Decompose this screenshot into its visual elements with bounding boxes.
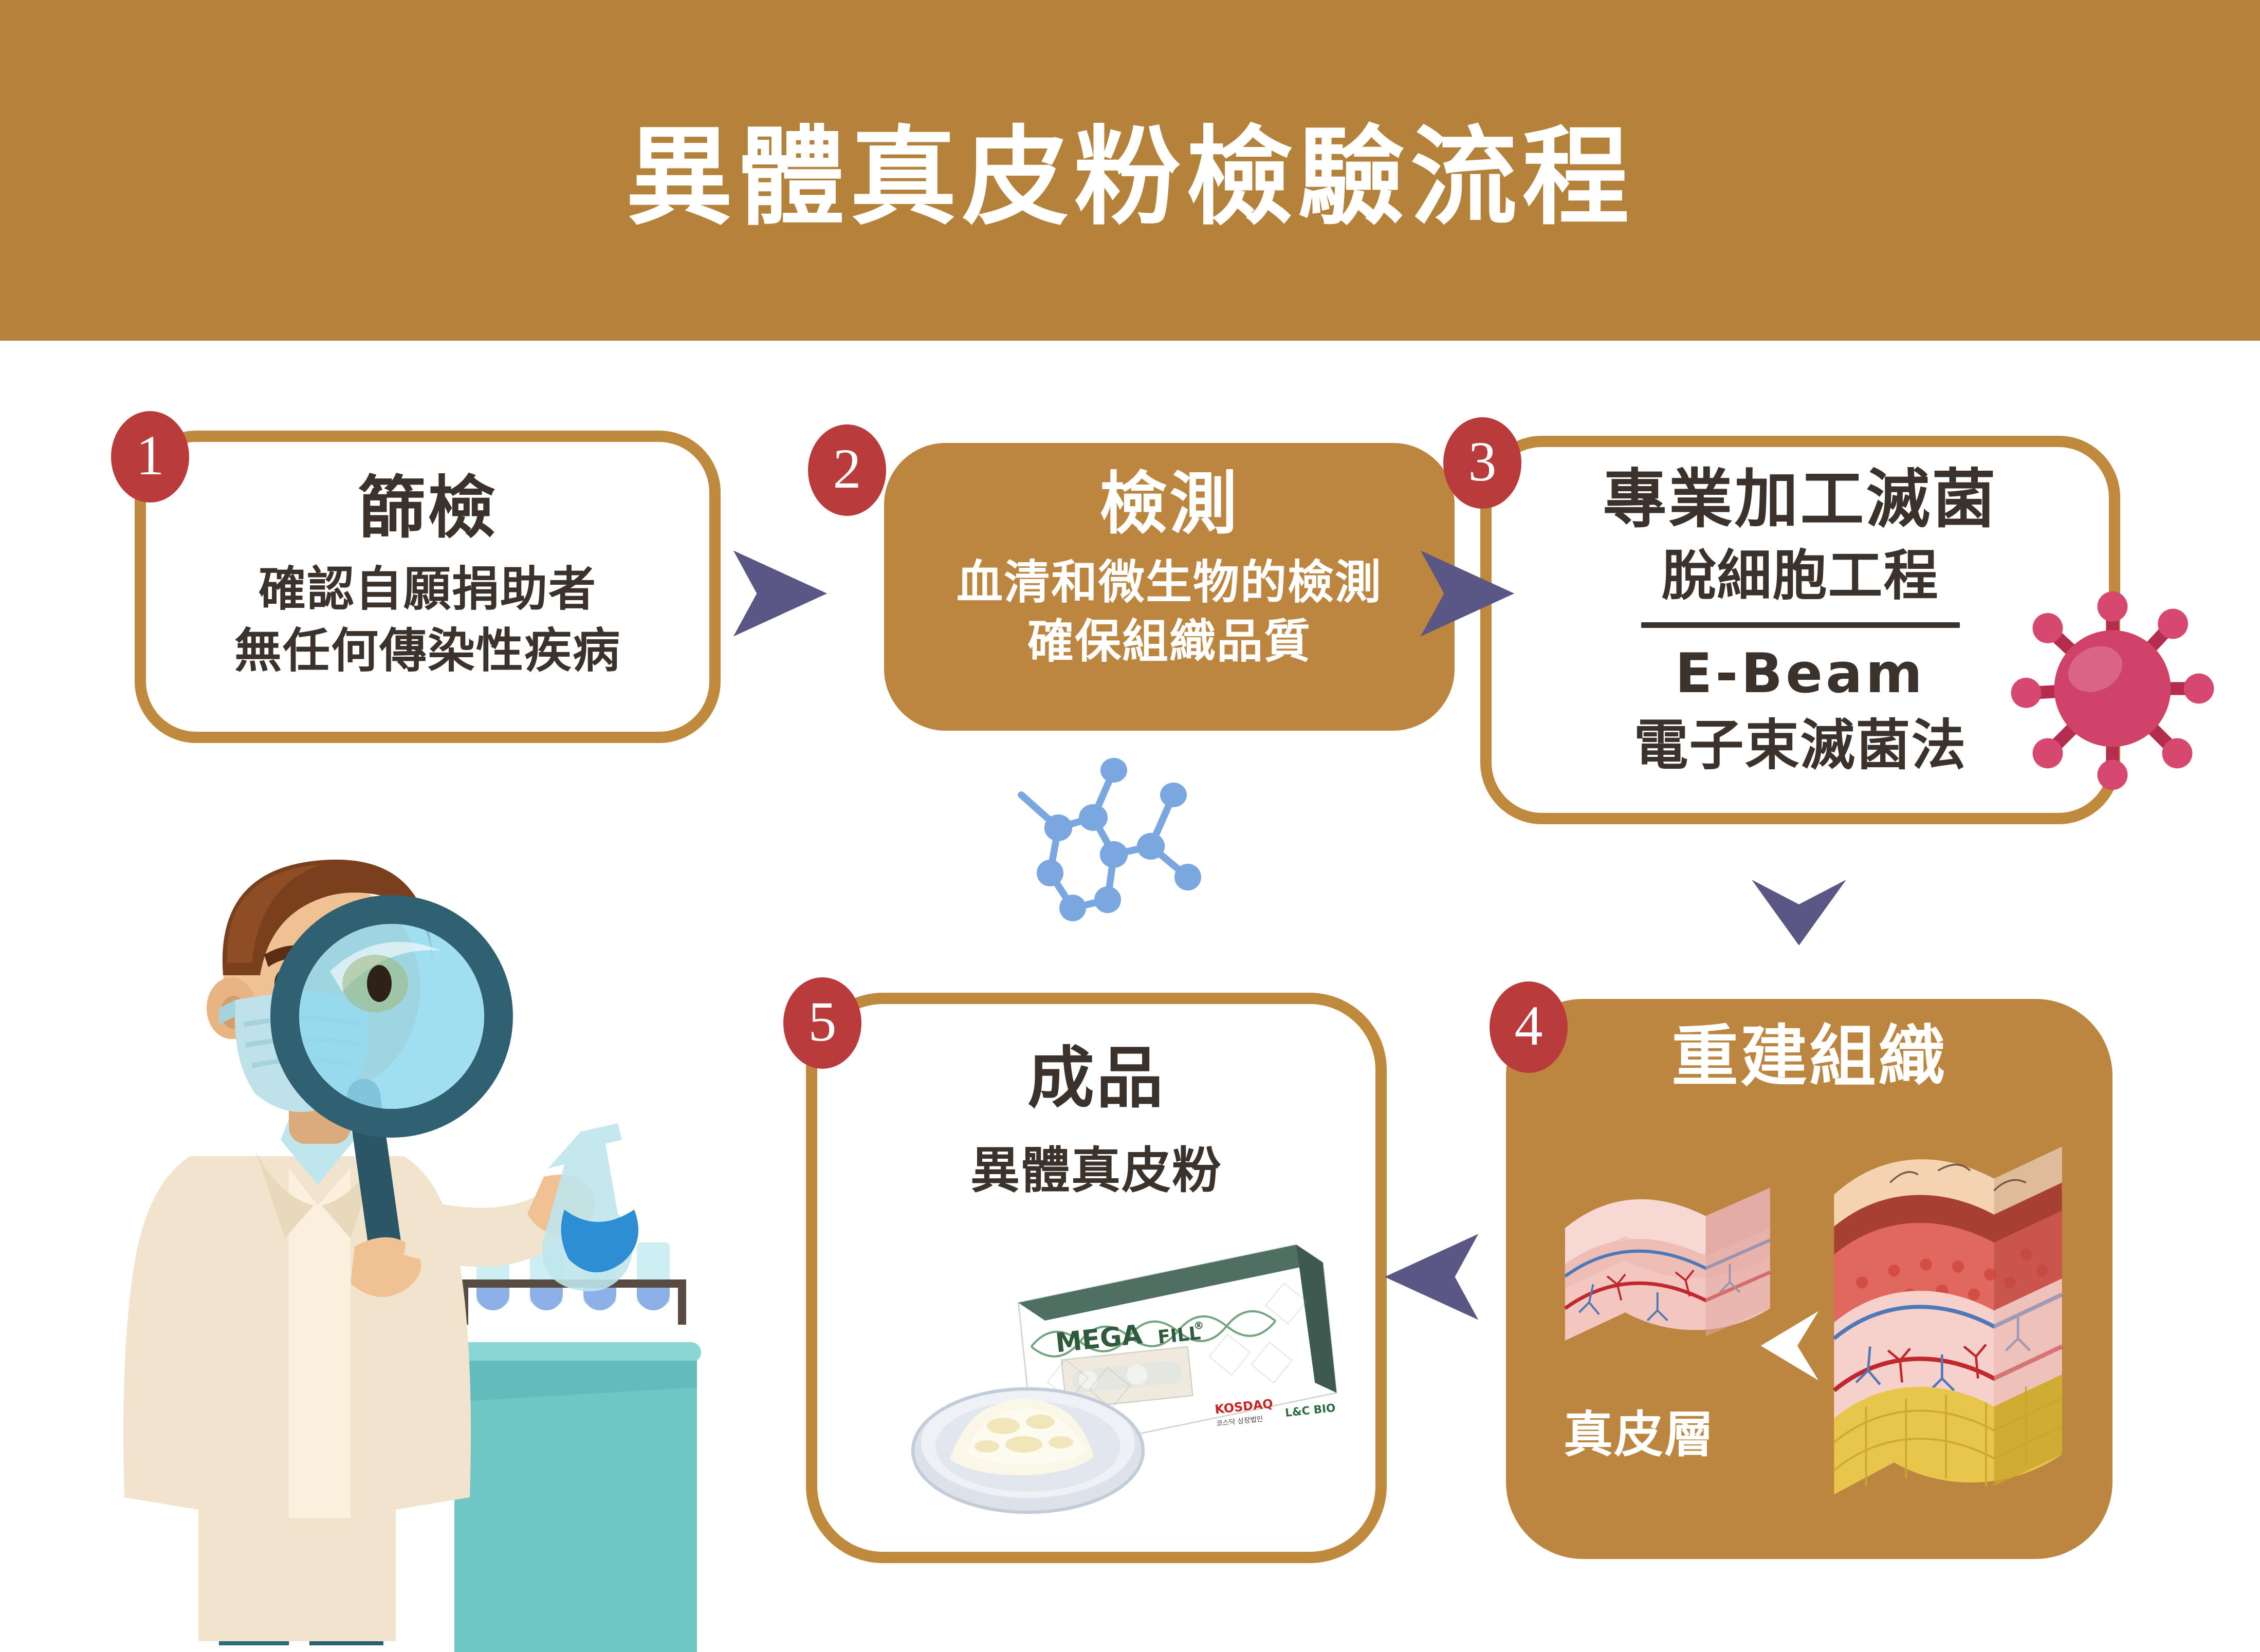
product-company-logo: L&C BIO bbox=[1284, 1402, 1336, 1420]
step-3-divider bbox=[1641, 622, 1960, 628]
step-2-line-2: 確保組織品質 bbox=[1027, 614, 1311, 670]
arrow-step2-to-step3 bbox=[1419, 545, 1516, 642]
scientist-illustration bbox=[67, 766, 642, 1649]
powder-petri-dish-photo bbox=[905, 1351, 1151, 1521]
chevron-left-icon-inner bbox=[1753, 1307, 1825, 1384]
step-5-title: 成品 bbox=[1027, 1042, 1165, 1114]
step-4-line-1: 真皮層 bbox=[1564, 1405, 1715, 1465]
arrow-step3-to-step4 bbox=[1748, 874, 1850, 956]
step-4-title: 重建組織 bbox=[1671, 1020, 1947, 1092]
step-3-number: 3 bbox=[1468, 433, 1497, 490]
virus-icon bbox=[2005, 581, 2220, 796]
step-5-number-badge: 5 bbox=[783, 977, 861, 1069]
skin-layer-illustration bbox=[1814, 1139, 2082, 1498]
step-5-line-1: 異體真皮粉 bbox=[970, 1141, 1222, 1201]
step-5-number: 5 bbox=[809, 993, 837, 1050]
step-4-number-badge: 4 bbox=[1490, 981, 1568, 1073]
step-1-number: 1 bbox=[136, 427, 164, 484]
infographic-canvas: 異體真皮粉檢驗流程 篩檢 確認自願捐助者 無任何傳染性疾病 1 檢測 血清和微生… bbox=[0, 0, 2260, 1652]
step-3-line-3: 電子束滅菌法 bbox=[1634, 712, 1967, 778]
page-title: 異體真皮粉檢驗流程 bbox=[0, 0, 2260, 341]
step-3-title: 專業加工滅菌 bbox=[1603, 466, 1997, 534]
step-1-number-badge: 1 bbox=[111, 411, 189, 503]
product-registered-mark: ® bbox=[1193, 1320, 1204, 1332]
step-3-number-badge: 3 bbox=[1443, 417, 1521, 509]
step-2-number: 2 bbox=[833, 440, 861, 497]
arrow-step1-to-step2 bbox=[731, 545, 829, 642]
step-2-line-1: 血清和微生物的檢測 bbox=[957, 554, 1382, 611]
step-3-line-1: 脫細胞工程 bbox=[1662, 543, 1939, 609]
step-1-line-1: 確認自願捐助者 bbox=[259, 561, 597, 618]
step-2-number-badge: 2 bbox=[808, 424, 886, 516]
step-card-4[interactable]: 重建組織 真皮層 bbox=[1506, 999, 2112, 1559]
step-3-line-2: E-Beam bbox=[1675, 640, 1925, 707]
step-card-2[interactable]: 檢測 血清和微生物的檢測 確保組織品質 bbox=[884, 443, 1455, 731]
molecule-icon bbox=[1005, 748, 1231, 953]
step-2-title: 檢測 bbox=[1099, 468, 1239, 541]
step-1-title: 篩檢 bbox=[358, 472, 498, 545]
step-card-1[interactable]: 篩檢 確認自願捐助者 無任何傳染性疾病 bbox=[135, 431, 721, 743]
step-1-line-2: 無任何傳染性疾病 bbox=[234, 622, 621, 680]
arrow-step4-to-step5 bbox=[1383, 1228, 1480, 1326]
step-4-number: 4 bbox=[1515, 997, 1543, 1054]
